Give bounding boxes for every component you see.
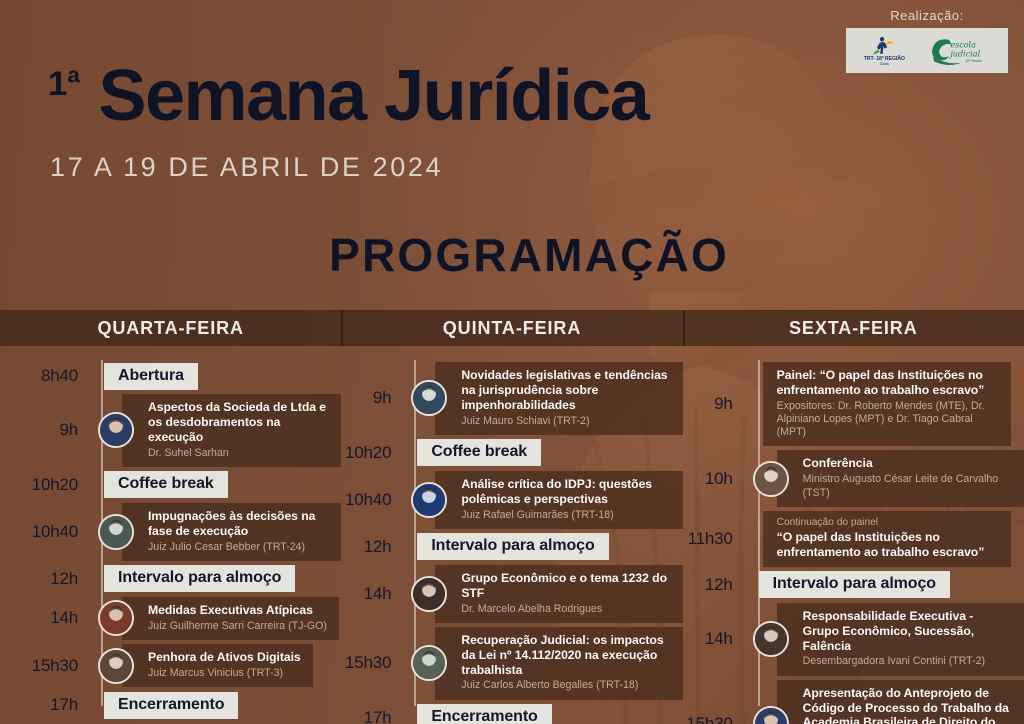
speaker-photo bbox=[413, 578, 445, 610]
day-header-quinta: QUINTA-FEIRA bbox=[341, 310, 682, 346]
speaker-marcelo-abelha-rodrigues bbox=[411, 576, 447, 612]
session-speaker: Dr. Suhel Sarhan bbox=[148, 447, 329, 460]
schedule-session: Novidades legislativas e tendências na j… bbox=[411, 362, 682, 435]
session-title: Impugnações às decisões na fase de execu… bbox=[148, 509, 329, 539]
schedule-time: 10h40 bbox=[341, 490, 409, 510]
schedule-break-label: Intervalo para almoço bbox=[104, 565, 295, 592]
session-card: Grupo Econômico e o tema 1232 do STFDr. … bbox=[435, 565, 682, 623]
session-title: Recuperação Judicial: os impactos da Lei… bbox=[461, 633, 670, 678]
schedule-row: 15h30Penhora de Ativos DigitaisJuiz Marc… bbox=[0, 644, 341, 687]
session-speaker: Dr. Marcelo Abelha Rodrigues bbox=[461, 603, 670, 616]
schedule-row: 12hIntervalo para almoço bbox=[683, 571, 1024, 599]
schedule-time: 15h30 bbox=[683, 714, 751, 724]
session-speaker: Juiz Julio Cesar Bebber (TRT-24) bbox=[148, 541, 329, 554]
session-card: Responsabilidade Executiva - Grupo Econô… bbox=[777, 603, 1024, 676]
schedule-row: 17hEncerramento bbox=[341, 704, 682, 724]
speaker-rafael-guimaraes bbox=[411, 482, 447, 518]
svg-text:escola: escola bbox=[951, 40, 977, 49]
speaker-augusto-cesar-leite-de-carvalho bbox=[753, 461, 789, 497]
schedule-break-label: Encerramento bbox=[417, 704, 551, 724]
session-card: Aspectos da Socieda de Ltda e os desdobr… bbox=[122, 394, 341, 467]
session-speaker: Juiz Mauro Schiavi (TRT-2) bbox=[461, 415, 670, 428]
schedule-session: Penhora de Ativos DigitaisJuiz Marcus Vi… bbox=[98, 644, 313, 687]
session-card: Penhora de Ativos DigitaisJuiz Marcus Vi… bbox=[122, 644, 313, 687]
schedule-row: 15h30Apresentação do Anteprojeto de Códi… bbox=[683, 680, 1024, 724]
schedule-row: 15h30Recuperação Judicial: os impactos d… bbox=[341, 627, 682, 700]
schedule-columns: 8h40Abertura9hAspectos da Socieda de Ltd… bbox=[0, 346, 1024, 724]
speaker-ivani-contini bbox=[753, 621, 789, 657]
speaker-julio-cesar-bebber bbox=[98, 514, 134, 550]
session-title: Penhora de Ativos Digitais bbox=[148, 650, 301, 665]
schedule-session: Aspectos da Socieda de Ltda e os desdobr… bbox=[98, 394, 341, 467]
speaker-photo bbox=[755, 463, 787, 495]
schedule-break-label: Encerramento bbox=[104, 692, 238, 719]
schedule-session: Responsabilidade Executiva - Grupo Econô… bbox=[753, 603, 1024, 676]
speaker-photo bbox=[755, 708, 787, 724]
schedule-row: 9hNovidades legislativas e tendências na… bbox=[341, 362, 682, 435]
schedule-column-quinta: 9hNovidades legislativas e tendências na… bbox=[341, 346, 682, 724]
session-speaker: Juiz Rafael Guimarães (TRT-18) bbox=[461, 509, 670, 522]
schedule-row: 8h40Abertura bbox=[0, 362, 341, 390]
schedule-break-label: Intervalo para almoço bbox=[759, 571, 950, 598]
session-title: Novidades legislativas e tendências na j… bbox=[461, 368, 670, 413]
schedule-session: Grupo Econômico e o tema 1232 do STFDr. … bbox=[411, 565, 682, 623]
schedule-time: 10h20 bbox=[341, 443, 409, 463]
speaker-photo bbox=[413, 484, 445, 516]
schedule-break-label: Coffee break bbox=[104, 471, 228, 498]
svg-text:judicial: judicial bbox=[949, 49, 981, 58]
session-title: Aspectos da Socieda de Ltda e os desdobr… bbox=[148, 400, 329, 445]
schedule-time: 17h bbox=[341, 708, 409, 724]
speaker-photo bbox=[100, 650, 132, 682]
trt-18-regiao-logo: TRT- 18ª REGIÃO Goiás bbox=[864, 36, 905, 66]
section-title: PROGRAMAÇÃO bbox=[0, 228, 1024, 282]
schedule-session: Recuperação Judicial: os impactos da Lei… bbox=[411, 627, 682, 700]
schedule-time: 15h30 bbox=[0, 656, 96, 676]
session-speaker: Juiz Guilherme Sarri Carreira (TJ-GO) bbox=[148, 620, 327, 633]
schedule-session: Apresentação do Anteprojeto de Código de… bbox=[753, 680, 1024, 724]
program-poster: Realização: TRT- 18ª REGIÃO Goiás escola… bbox=[0, 0, 1024, 724]
schedule-session: Análise crítica do IDPJ: questões polêmi… bbox=[411, 471, 682, 529]
schedule-session: Medidas Executivas AtípicasJuiz Guilherm… bbox=[98, 597, 339, 640]
schedule-time: 12h bbox=[0, 569, 96, 589]
schedule-session: ConferênciaMinistro Augusto César Leite … bbox=[753, 450, 1024, 506]
trt-logo-subtext: Goiás bbox=[880, 62, 889, 66]
schedule-time: 8h40 bbox=[0, 366, 96, 386]
session-card: Impugnações às decisões na fase de execu… bbox=[122, 503, 341, 561]
schedule-row: 10hConferênciaMinistro Augusto César Lei… bbox=[683, 450, 1024, 506]
speaker-photo bbox=[413, 382, 445, 414]
realizacao-block: Realização: TRT- 18ª REGIÃO Goiás escola… bbox=[846, 8, 1008, 73]
day-header-sexta: SEXTA-FEIRA bbox=[683, 310, 1024, 346]
realizacao-label: Realização: bbox=[846, 8, 1008, 23]
session-title: “O papel das Instituições no enfrentamen… bbox=[777, 530, 999, 560]
session-speaker: Expositores: Dr. Roberto Mendes (MTE), D… bbox=[777, 400, 999, 440]
session-card: Novidades legislativas e tendências na j… bbox=[435, 362, 682, 435]
schedule-row: 9hAspectos da Socieda de Ltda e os desdo… bbox=[0, 394, 341, 467]
speaker-photo bbox=[100, 516, 132, 548]
schedule-row: 10h20Coffee break bbox=[0, 471, 341, 499]
session-title: Medidas Executivas Atípicas bbox=[148, 603, 327, 618]
schedule-time: 14h bbox=[683, 629, 751, 649]
schedule-session: Continuação do painel“O papel das Instit… bbox=[753, 511, 1011, 567]
logo-box: TRT- 18ª REGIÃO Goiás escola judicial 18… bbox=[846, 28, 1008, 73]
schedule-time: 9h bbox=[341, 388, 409, 408]
schedule-row: 10h40Análise crítica do IDPJ: questões p… bbox=[341, 471, 682, 529]
session-title: Apresentação do Anteprojeto de Código de… bbox=[803, 686, 1012, 724]
schedule-row: 14hGrupo Econômico e o tema 1232 do STFD… bbox=[341, 565, 682, 623]
speaker-photo bbox=[755, 623, 787, 655]
schedule-session: Impugnações às decisões na fase de execu… bbox=[98, 503, 341, 561]
schedule-time: 15h30 bbox=[341, 653, 409, 673]
speaker-photo bbox=[100, 414, 132, 446]
title-ordinal: 1ª bbox=[48, 65, 80, 103]
schedule-time: 12h bbox=[683, 575, 751, 595]
session-card: Recuperação Judicial: os impactos da Lei… bbox=[435, 627, 682, 700]
speaker-photo bbox=[413, 647, 445, 679]
schedule-break-label: Coffee break bbox=[417, 439, 541, 466]
schedule-row: 11h30Continuação do painel“O papel das I… bbox=[683, 511, 1024, 567]
schedule-time: 17h bbox=[0, 695, 96, 715]
schedule-column-sexta: 9hPainel: “O papel das Instituições no e… bbox=[683, 346, 1024, 724]
schedule-time: 14h bbox=[341, 584, 409, 604]
event-dates: 17 A 19 DE ABRIL DE 2024 bbox=[50, 152, 443, 183]
schedule-row: 14hMedidas Executivas AtípicasJuiz Guilh… bbox=[0, 597, 341, 640]
schedule-row: 12hIntervalo para almoço bbox=[0, 565, 341, 593]
trt-runner-icon bbox=[871, 36, 897, 55]
session-speaker: Desembargadora Ivani Contini (TRT-2) bbox=[803, 655, 1012, 668]
schedule-column-quarta: 8h40Abertura9hAspectos da Socieda de Ltd… bbox=[0, 346, 341, 724]
day-header-quarta: QUARTA-FEIRA bbox=[0, 310, 341, 346]
schedule-time: 10h40 bbox=[0, 522, 96, 542]
schedule-row: 10h20Coffee break bbox=[341, 439, 682, 467]
schedule-break-label: Abertura bbox=[104, 363, 198, 390]
session-card: ConferênciaMinistro Augusto César Leite … bbox=[777, 450, 1024, 506]
session-pretitle: Continuação do painel bbox=[777, 517, 999, 529]
speaker-photo bbox=[100, 602, 132, 634]
schedule-row: 10h40Impugnações às decisões na fase de … bbox=[0, 503, 341, 561]
session-title: Grupo Econômico e o tema 1232 do STF bbox=[461, 571, 670, 601]
session-speaker: Ministro Augusto César Leite de Carvalho… bbox=[803, 473, 1012, 499]
session-title: Responsabilidade Executiva - Grupo Econô… bbox=[803, 609, 1012, 654]
escola-judicial-logo: escola judicial 18ª Região bbox=[928, 36, 990, 66]
session-card: Análise crítica do IDPJ: questões polêmi… bbox=[435, 471, 682, 529]
svg-text:18ª Região: 18ª Região bbox=[965, 59, 982, 63]
schedule-row: 14hResponsabilidade Executiva - Grupo Ec… bbox=[683, 603, 1024, 676]
session-title: Painel: “O papel das Instituições no enf… bbox=[777, 368, 999, 398]
page-title: 1ª Semana Jurídica bbox=[48, 62, 648, 130]
schedule-row: 17hEncerramento bbox=[0, 691, 341, 719]
schedule-time: 14h bbox=[0, 608, 96, 628]
schedule-session: Painel: “O papel das Instituições no enf… bbox=[753, 362, 1011, 446]
schedule-row: 9hPainel: “O papel das Instituições no e… bbox=[683, 362, 1024, 446]
title-main: Semana Jurídica bbox=[99, 56, 649, 136]
session-title: Conferência bbox=[803, 456, 1012, 471]
schedule-time: 9h bbox=[0, 420, 96, 440]
session-card: Medidas Executivas AtípicasJuiz Guilherm… bbox=[122, 597, 339, 640]
schedule-time: 12h bbox=[341, 537, 409, 557]
schedule-row: 12hIntervalo para almoço bbox=[341, 533, 682, 561]
session-card: Continuação do painel“O papel das Instit… bbox=[763, 511, 1011, 567]
session-card: Painel: “O papel das Instituições no enf… bbox=[763, 362, 1011, 446]
schedule-time: 11h30 bbox=[683, 529, 751, 549]
schedule-break-label: Intervalo para almoço bbox=[417, 533, 608, 560]
session-speaker: Juiz Carlos Alberto Begalles (TRT-18) bbox=[461, 679, 670, 692]
schedule-time: 10h20 bbox=[0, 475, 96, 495]
schedule-time: 9h bbox=[683, 394, 751, 414]
day-headers-bar: QUARTA-FEIRA QUINTA-FEIRA SEXTA-FEIRA bbox=[0, 310, 1024, 346]
schedule-time: 10h bbox=[683, 469, 751, 489]
session-speaker: Juiz Marcus Vinicius (TRT-3) bbox=[148, 667, 301, 680]
session-card: Apresentação do Anteprojeto de Código de… bbox=[777, 680, 1024, 724]
speaker-marcus-vinicius bbox=[98, 648, 134, 684]
session-title: Análise crítica do IDPJ: questões polêmi… bbox=[461, 477, 670, 507]
